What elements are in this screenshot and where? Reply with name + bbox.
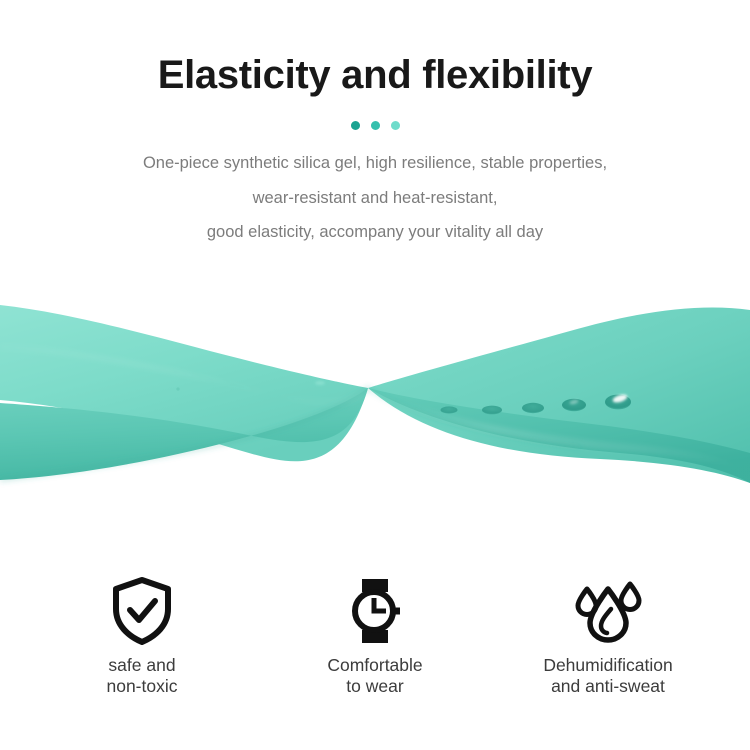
feature-safe-non-toxic: safe and non-toxic xyxy=(26,575,259,697)
dot-2 xyxy=(371,121,380,130)
caption-line-2: to wear xyxy=(327,676,422,697)
feature-comfortable-to-wear: Comfortable to wear xyxy=(259,575,492,697)
feature-caption: Dehumidification and anti-sweat xyxy=(543,655,672,697)
caption-line-1: Comfortable xyxy=(327,655,422,676)
caption-line-2: and anti-sweat xyxy=(543,676,672,697)
caption-line-1: safe and xyxy=(106,655,177,676)
surface-speck-2 xyxy=(176,387,179,390)
water-drops-icon xyxy=(570,575,646,647)
caption-line-1: Dehumidification xyxy=(543,655,672,676)
caption-line-2: non-toxic xyxy=(106,676,177,697)
description-line-3: good elasticity, accompany your vitality… xyxy=(0,215,750,250)
adjustment-hole-2 xyxy=(482,406,502,415)
wristwatch-icon xyxy=(343,575,407,647)
description-line-2: wear-resistant and heat-resistant, xyxy=(0,181,750,216)
promo-page: Elasticity and flexibility One-piece syn… xyxy=(0,0,750,750)
page-title: Elasticity and flexibility xyxy=(0,48,750,102)
feature-caption: Comfortable to wear xyxy=(327,655,422,697)
adjustment-hole-1 xyxy=(441,406,458,413)
surface-speck-1 xyxy=(315,381,325,385)
shield-check-icon xyxy=(110,575,174,647)
dot-3 xyxy=(391,121,400,130)
twisted-band-illustration xyxy=(0,255,750,530)
product-image xyxy=(0,255,750,530)
description-line-1: One-piece synthetic silica gel, high res… xyxy=(0,146,750,181)
adjustment-hole-3 xyxy=(522,403,544,413)
feature-dehumidification: Dehumidification and anti-sweat xyxy=(492,575,725,697)
feature-caption: safe and non-toxic xyxy=(106,655,177,697)
feature-row: safe and non-toxic Comfortable to wear xyxy=(0,575,750,697)
dot-1 xyxy=(351,121,360,130)
dot-separator xyxy=(0,121,750,130)
description-text: One-piece synthetic silica gel, high res… xyxy=(0,146,750,250)
